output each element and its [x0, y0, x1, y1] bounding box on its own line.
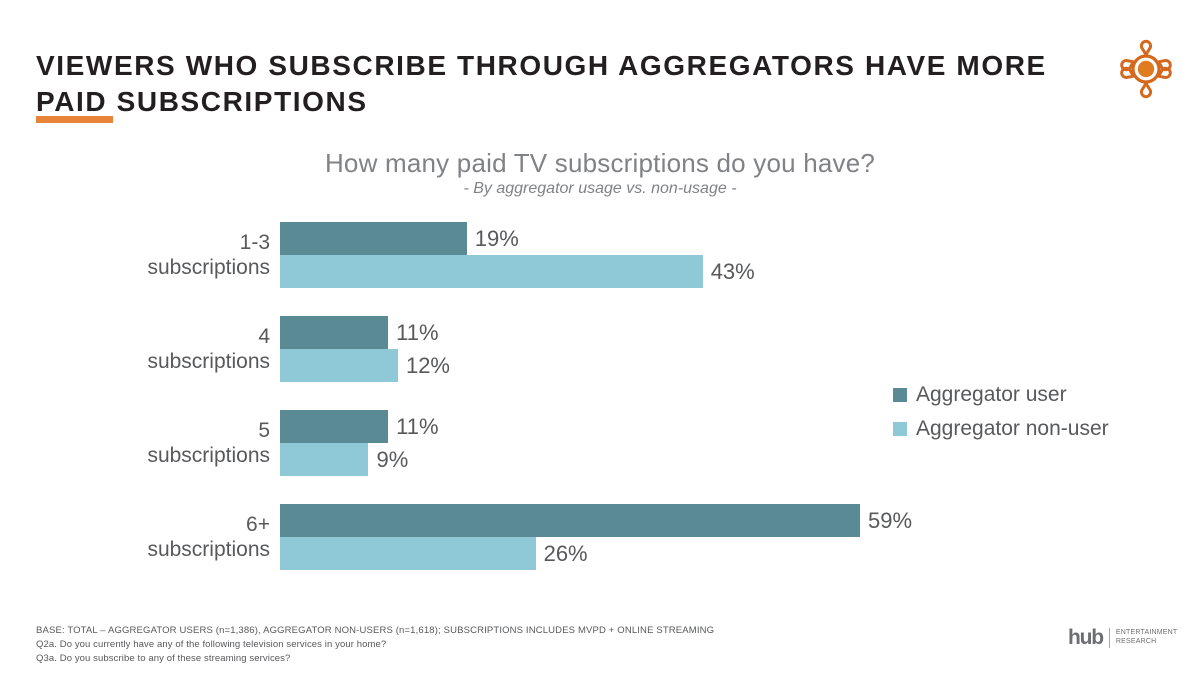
bar-value-label: 12% [398, 349, 450, 382]
bar-group: 1-3 subscriptions 19% 43% [0, 222, 1200, 288]
legend-swatch-icon [893, 422, 907, 436]
logo-subtext-line1: ENTERTAINMENT [1116, 629, 1177, 638]
category-label: 5 subscriptions [60, 410, 270, 476]
category-label-line: 6+ [246, 512, 270, 537]
category-label-line: subscriptions [147, 255, 270, 280]
footnote-question-2: Q3a. Do you subscribe to any of these st… [36, 652, 936, 666]
category-label-line: subscriptions [147, 349, 270, 374]
page-title: VIEWERS WHO SUBSCRIBE THROUGH AGGREGATOR… [36, 48, 1056, 120]
category-label: 6+ subscriptions [60, 504, 270, 570]
bar-series-a[interactable] [280, 222, 467, 255]
sun-burst-icon [1110, 33, 1182, 105]
footnotes: BASE: TOTAL – AGGREGATOR USERS (n=1,386)… [36, 624, 936, 666]
bar-series-b[interactable] [280, 443, 368, 476]
bar-value-label: 26% [536, 537, 588, 570]
bar-series-a[interactable] [280, 504, 860, 537]
legend-item-aggregator-user[interactable]: Aggregator user [893, 378, 1173, 412]
bar-series-a[interactable] [280, 316, 388, 349]
bar-group: 6+ subscriptions 59% 26% [0, 504, 1200, 570]
footnote-question-1: Q2a. Do you currently have any of the fo… [36, 638, 936, 652]
category-label: 4 subscriptions [60, 316, 270, 382]
logo-subtext-line2: RESEARCH [1116, 638, 1177, 647]
category-label-line: 5 [258, 418, 270, 443]
bar-value-label: 11% [388, 410, 438, 443]
legend-item-aggregator-non-user[interactable]: Aggregator non-user [893, 412, 1173, 446]
logo-wordmark: hub [1068, 627, 1103, 648]
bar-series-b[interactable] [280, 537, 536, 570]
bar-series-b[interactable] [280, 349, 398, 382]
category-label-line: subscriptions [147, 537, 270, 562]
category-label-line: 1-3 [240, 230, 270, 255]
category-label: 1-3 subscriptions [60, 222, 270, 288]
bar-value-label: 11% [388, 316, 438, 349]
legend-label: Aggregator non-user [916, 417, 1109, 441]
legend-label: Aggregator user [916, 383, 1067, 407]
chart-subtitle: - By aggregator usage vs. non-usage - [0, 180, 1200, 198]
bar-value-label: 9% [368, 443, 408, 476]
category-label-line: subscriptions [147, 443, 270, 468]
category-label-line: 4 [258, 324, 270, 349]
legend-swatch-icon [893, 388, 907, 402]
footnote-base: BASE: TOTAL – AGGREGATOR USERS (n=1,386)… [36, 624, 936, 638]
title-accent-underline [36, 116, 113, 123]
chart-question: How many paid TV subscriptions do you ha… [0, 148, 1200, 179]
logo-divider [1109, 628, 1110, 648]
hub-logo: hub ENTERTAINMENT RESEARCH [1068, 627, 1177, 648]
bar-group: 4 subscriptions 11% 12% [0, 316, 1200, 382]
bar-value-label: 43% [703, 255, 755, 288]
logo-subtext: ENTERTAINMENT RESEARCH [1116, 629, 1177, 646]
chart-legend: Aggregator user Aggregator non-user [893, 378, 1173, 446]
bar-value-label: 59% [860, 504, 912, 537]
bar-series-a[interactable] [280, 410, 388, 443]
bar-series-b[interactable] [280, 255, 703, 288]
bar-value-label: 19% [467, 222, 519, 255]
